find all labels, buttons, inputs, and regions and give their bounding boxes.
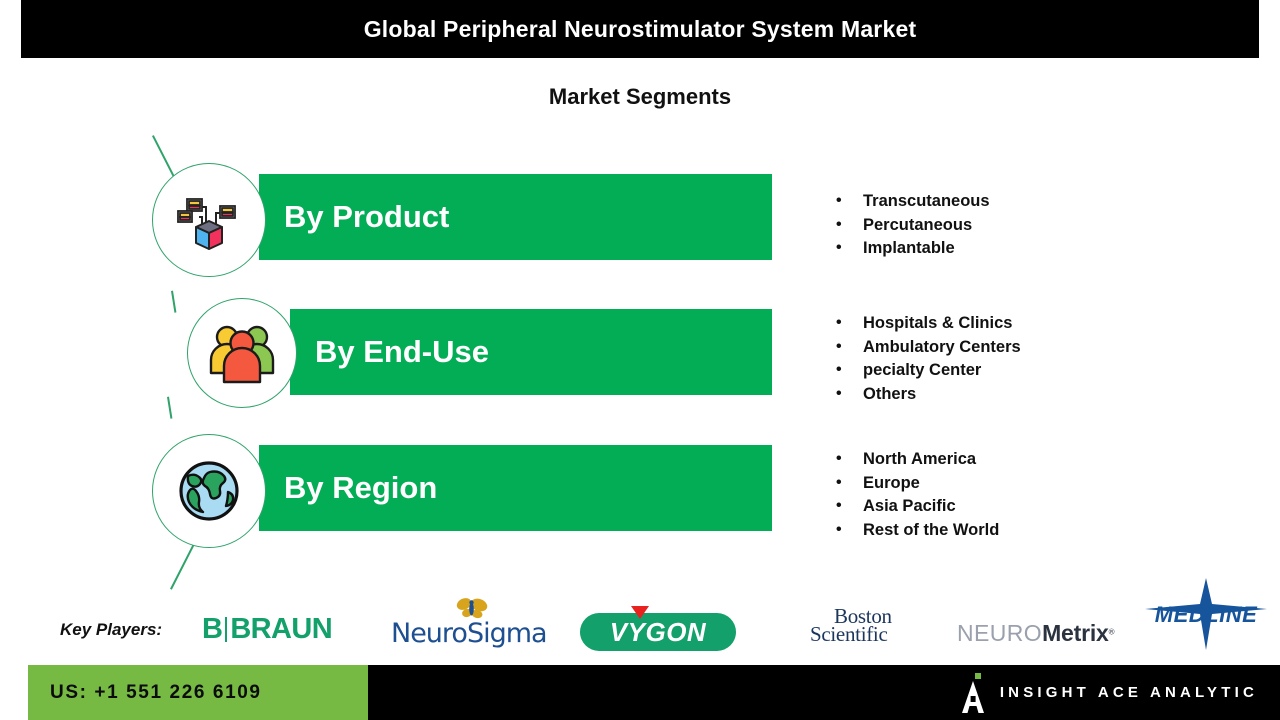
segment-label-by-product: By Product (284, 199, 449, 235)
segment-bar-by-product[interactable]: By Product (259, 174, 772, 260)
segment-icon-circle-by-product (152, 163, 266, 277)
bullet-icon: • (836, 214, 863, 237)
segment-label-by-end-use: By End-Use (315, 334, 489, 370)
segment-row-by-region: By Region (0, 445, 1280, 531)
list-item-label: Ambulatory Centers (863, 336, 1021, 359)
bullet-icon: • (836, 237, 863, 260)
bbraun-b: B (202, 613, 222, 646)
logo-neurometrix[interactable]: NEUROMetrix® (957, 620, 1115, 647)
list-item-label: North America (863, 448, 976, 471)
list-item-label: Rest of the World (863, 519, 999, 542)
neurosigma-text: NeuroSigma (391, 618, 547, 649)
bullet-icon: • (836, 495, 863, 518)
vygon-text: VYGON (610, 617, 706, 648)
list-item: • Rest of the World (836, 519, 999, 542)
list-item-label: Asia Pacific (863, 495, 956, 518)
list-item: • Asia Pacific (836, 495, 999, 518)
list-item-label: pecialty Center (863, 359, 981, 382)
medline-text: MEDLINE (1145, 602, 1267, 628)
list-item: • Transcutaneous (836, 190, 990, 213)
segment-row-by-end-use: By End-Use (0, 309, 1280, 395)
section-subtitle: Market Segments (0, 84, 1280, 110)
list-item-label: Transcutaneous (863, 190, 990, 213)
list-item: • Europe (836, 472, 999, 495)
list-item: • pecialty Center (836, 359, 1021, 382)
vygon-pill: VYGON (580, 613, 736, 651)
registered-icon: ® (1109, 628, 1115, 637)
key-players-label: Key Players: (60, 620, 162, 640)
bullet-list-by-product: • Transcutaneous • Percutaneous • Implan… (836, 190, 990, 261)
product-cube-icon (174, 185, 244, 255)
bullet-icon: • (836, 359, 863, 382)
neurometrix-metrix: Metrix (1042, 620, 1109, 646)
bullet-icon: • (836, 190, 863, 213)
decorative-line-middle-top (171, 291, 176, 313)
neurometrix-neuro: NEURO (957, 620, 1042, 646)
logo-neurosigma[interactable]: NeuroSigma (391, 598, 536, 650)
segment-icon-circle-by-end-use (187, 298, 297, 408)
list-item: • Hospitals & Clinics (836, 312, 1021, 335)
logo-bbraun[interactable]: B BRAUN (202, 613, 332, 646)
bullet-icon: • (836, 383, 863, 406)
segment-bar-by-region[interactable]: By Region (259, 445, 772, 531)
list-item: • Ambulatory Centers (836, 336, 1021, 359)
list-item: • Others (836, 383, 1021, 406)
list-item: • Percutaneous (836, 214, 990, 237)
people-group-icon (206, 320, 278, 386)
insightace-logo-icon (960, 673, 986, 713)
list-item: • Implantable (836, 237, 990, 260)
decorative-line-middle-bottom (167, 397, 172, 419)
list-item-label: Percutaneous (863, 214, 972, 237)
vygon-triangle-icon (631, 606, 649, 619)
segment-icon-circle-by-region (152, 434, 266, 548)
segment-bar-by-end-use[interactable]: By End-Use (290, 309, 772, 395)
list-item-label: Others (863, 383, 916, 406)
segment-row-by-product: By Product (0, 174, 1280, 260)
segment-label-by-region: By Region (284, 470, 437, 506)
boston-line2: Scientific (810, 622, 887, 647)
header-bar: Global Peripheral Neurostimulator System… (21, 0, 1259, 58)
logo-medline[interactable]: MEDLINE (1145, 578, 1267, 650)
footer-brand-name: INSIGHT ACE ANALYTIC (1000, 684, 1258, 701)
slide-root: Global Peripheral Neurostimulator System… (0, 0, 1280, 720)
globe-icon (176, 458, 242, 524)
footer-phone[interactable]: US: +1 551 226 6109 (50, 682, 262, 704)
bullet-list-by-end-use: • Hospitals & Clinics • Ambulatory Cente… (836, 312, 1021, 406)
list-item-label: Implantable (863, 237, 955, 260)
footer-contact-bar: US: +1 551 226 6109 (28, 665, 368, 720)
bullet-icon: • (836, 312, 863, 335)
list-item: • North America (836, 448, 999, 471)
bullet-icon: • (836, 448, 863, 471)
page-title: Global Peripheral Neurostimulator System… (364, 16, 917, 43)
list-item-label: Europe (863, 472, 920, 495)
bullet-list-by-region: • North America • Europe • Asia Pacific … (836, 448, 999, 542)
logo-boston-scientific[interactable]: Boston Scientific (810, 604, 940, 654)
footer-brand-bar: INSIGHT ACE ANALYTIC (368, 665, 1280, 720)
bbraun-braun: BRAUN (230, 613, 332, 646)
logo-vygon[interactable]: VYGON (580, 607, 736, 651)
bullet-icon: • (836, 336, 863, 359)
bullet-icon: • (836, 519, 863, 542)
bbraun-separator (225, 617, 227, 642)
bullet-icon: • (836, 472, 863, 495)
list-item-label: Hospitals & Clinics (863, 312, 1012, 335)
